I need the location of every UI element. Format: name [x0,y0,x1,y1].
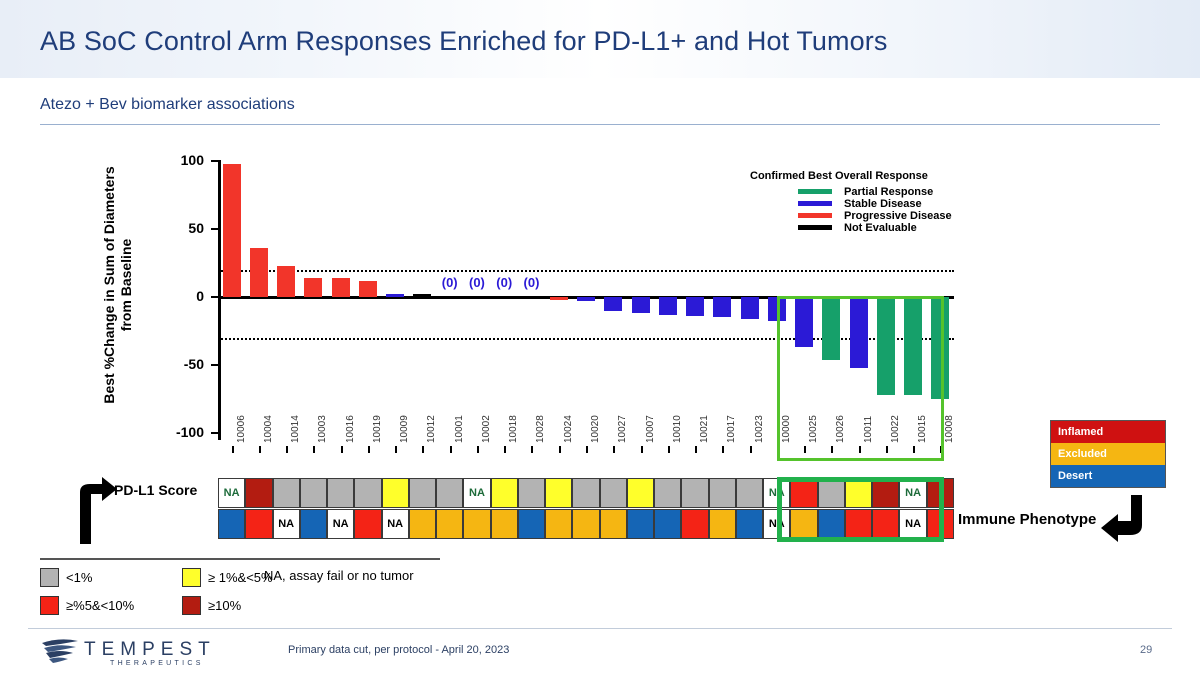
x-tick-label: 10009 [399,415,410,443]
x-tick-label: 10028 [535,415,546,443]
x-tick-mark [477,446,479,453]
x-tick-mark [722,446,724,453]
bar [577,297,595,301]
y-tick-mark [211,296,218,298]
pdl1-cell [354,478,381,508]
x-tick-mark [613,446,615,453]
immune-phenotype-legend-item: Inflamed [1051,421,1165,443]
bar [250,248,268,297]
phenotype-cell: NA [327,509,354,539]
phenotype-cell [709,509,736,539]
legend-item-label: <1% [66,570,92,585]
pdl1-cell [300,478,327,508]
tempest-logo-text: TEMPEST [84,639,216,661]
legend-item-label: ≥10% [208,598,241,613]
legend-color-swatch [40,596,59,615]
pdl1-legend-item: ≥ 1%&<5% [182,568,273,587]
pdl1-cell [654,478,681,508]
x-tick-label: 10001 [454,415,465,443]
response-legend-item: Not Evaluable [750,222,952,233]
bar [686,297,704,316]
legend-item-label: Stable Disease [844,198,922,210]
tempest-logo-subtext: THERAPEUTICS [110,660,204,667]
x-tick-label: 10007 [645,415,656,443]
legend-color-swatch [798,201,832,206]
x-tick-mark [313,446,315,453]
legend-color-swatch [798,225,832,230]
x-tick-label: 10014 [290,415,301,443]
phenotype-cell [545,509,572,539]
x-tick-mark [586,446,588,453]
phenotype-cell [491,509,518,539]
y-tick-label: 100 [148,152,204,168]
y-tick-mark [211,160,218,162]
phenotype-cell [681,509,708,539]
responder-highlight-box-heatmap [777,477,944,542]
legend-color-swatch [182,568,201,587]
x-tick-mark [368,446,370,453]
y-axis [218,160,221,440]
phenotype-cell [518,509,545,539]
x-tick-label: 10017 [726,415,737,443]
bar [304,278,322,297]
x-tick-label: 10027 [617,415,628,443]
x-tick-mark [286,446,288,453]
bar [741,297,759,319]
x-tick-label: 10004 [263,415,274,443]
zero-value-label: (0) [462,275,492,290]
pdl1-legend-item: ≥%5&<10% [40,596,134,615]
pdl1-cell: NA [218,478,245,508]
pdl1-cell [572,478,599,508]
reference-line [218,270,954,272]
phenotype-cell [409,509,436,539]
phenotype-cell [218,509,245,539]
x-tick-label: 10008 [944,415,955,443]
response-legend-item: Partial Response [750,186,952,197]
pdl1-cell [681,478,708,508]
pdl1-cell [409,478,436,508]
response-legend-item: Stable Disease [750,198,952,209]
y-tick-label: -50 [148,356,204,372]
response-legend: Confirmed Best Overall Response Partial … [750,170,952,234]
phenotype-cell [436,509,463,539]
page-number: 29 [1140,644,1152,656]
x-tick-mark [695,446,697,453]
pdl1-cell [545,478,572,508]
pdl1-cell [273,478,300,508]
tempest-logo-icon [40,637,80,665]
legend-item-label: Progressive Disease [844,210,952,222]
bar [332,278,350,297]
x-tick-label: 10006 [236,415,247,443]
phenotype-cell [736,509,763,539]
pdl1-cell [245,478,272,508]
x-tick-mark [559,446,561,453]
x-tick-mark [450,446,452,453]
pdl1-legend-item: NA, assay fail or no tumor [264,568,414,583]
bar [713,297,731,317]
x-tick-label: 10021 [699,415,710,443]
pdl1-cell [709,478,736,508]
phenotype-cell [627,509,654,539]
x-tick-label: 10019 [372,415,383,443]
legend-item-label: ≥%5&<10% [66,598,134,613]
bar [604,297,622,311]
pdl1-cell [491,478,518,508]
phenotype-cell [300,509,327,539]
x-tick-mark [232,446,234,453]
y-tick-mark [211,364,218,366]
phenotype-cell [572,509,599,539]
phenotype-cell [463,509,490,539]
legend-item-label: Partial Response [844,186,933,198]
immune-phenotype-legend-item: Excluded [1051,443,1165,465]
footer-divider [28,628,1172,629]
pdl1-cell [600,478,627,508]
pdl1-legend-item: ≥10% [182,596,241,615]
zero-value-label: (0) [489,275,519,290]
legend-item-label: ≥ 1%&<5% [208,570,273,585]
x-tick-label: 10010 [672,415,683,443]
y-tick-label: 50 [148,220,204,236]
legend-color-swatch [40,568,59,587]
pdl1-cell [327,478,354,508]
immune-phenotype-legend: InflamedExcludedDesert [1050,420,1166,488]
footer-note: Primary data cut, per protocol - April 2… [288,644,509,656]
bar [386,294,404,297]
phenotype-cell: NA [273,509,300,539]
pdl1-legend-divider [40,558,440,560]
y-tick-mark [211,228,218,230]
x-tick-label: 10016 [345,415,356,443]
x-tick-label: 10018 [508,415,519,443]
zero-value-label: (0) [516,275,546,290]
x-tick-label: 10003 [317,415,328,443]
x-tick-mark [422,446,424,453]
pdl1-cell: NA [463,478,490,508]
x-tick-label: 10020 [590,415,601,443]
response-legend-title: Confirmed Best Overall Response [750,170,952,182]
x-tick-mark [259,446,261,453]
bar [659,297,677,315]
immune-phenotype-label: Immune Phenotype [958,511,1096,528]
y-tick-label: 0 [148,288,204,304]
pdl1-legend: <1%≥ 1%&<5%NA, assay fail or no tumor≥%5… [40,558,440,624]
x-tick-mark [641,446,643,453]
phenotype-cell [354,509,381,539]
pdl1-cell [736,478,763,508]
x-tick-mark [504,446,506,453]
response-legend-item: Progressive Disease [750,210,952,221]
phenotype-cell: NA [382,509,409,539]
zero-value-label: (0) [435,275,465,290]
phenotype-cell [654,509,681,539]
pdl1-score-label: PD-L1 Score [114,482,197,498]
y-tick-mark [211,432,218,434]
bar [550,297,568,300]
pdl1-cell [436,478,463,508]
phenotype-cell [600,509,627,539]
y-tick-label: -100 [148,424,204,440]
x-tick-mark [341,446,343,453]
x-tick-label: 10024 [563,415,574,443]
immune-phenotype-arrow-icon [1098,495,1150,543]
bar [223,164,241,297]
pdl1-cell [627,478,654,508]
x-tick-mark [531,446,533,453]
x-tick-mark [668,446,670,453]
pdl1-cell [518,478,545,508]
immune-phenotype-legend-item: Desert [1051,465,1165,487]
pdl1-cell [382,478,409,508]
legend-color-swatch [798,213,832,218]
bar [632,297,650,313]
x-tick-label: 10023 [754,415,765,443]
x-tick-label: 10002 [481,415,492,443]
x-tick-label: 10012 [426,415,437,443]
pdl1-arrow-icon [72,474,120,544]
legend-item-label: NA, assay fail or no tumor [264,568,414,583]
phenotype-cell [245,509,272,539]
legend-item-label: Not Evaluable [844,222,917,234]
bar [277,266,295,297]
bar [413,294,431,297]
x-tick-mark [750,446,752,453]
legend-color-swatch [182,596,201,615]
y-axis-label: Best %Change in Sum of Diameters from Ba… [101,160,135,410]
responder-highlight-box [777,296,944,461]
legend-color-swatch [798,189,832,194]
x-tick-mark [395,446,397,453]
bar [359,281,377,297]
pdl1-legend-item: <1% [40,568,92,587]
